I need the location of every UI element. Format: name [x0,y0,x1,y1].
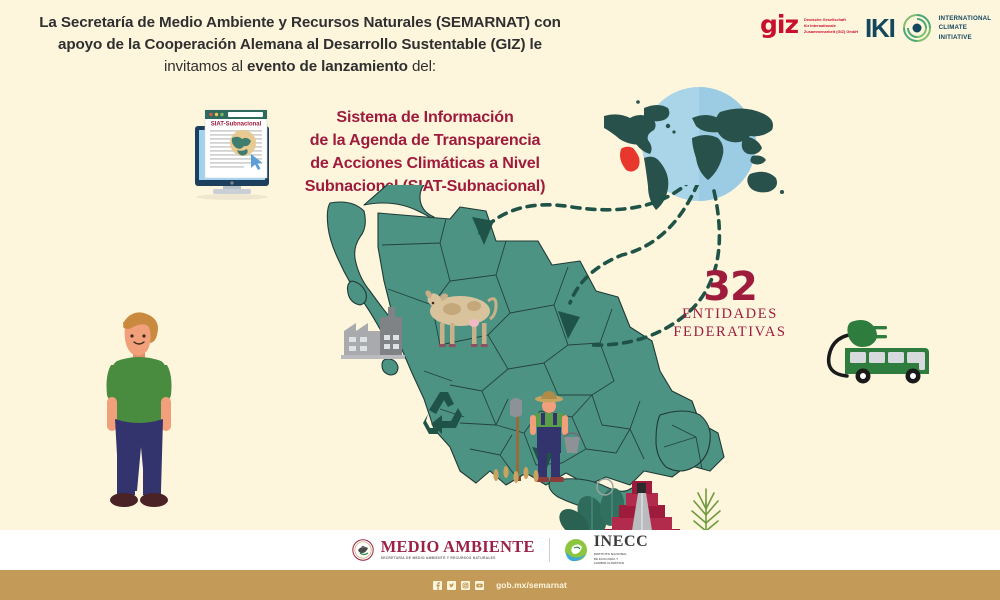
semarnat-logo: MEDIO AMBIENTE SECRETARÍA DE MEDIO AMBIE… [352,539,535,561]
inecc-emblem-icon [564,538,588,562]
entidades-federativas-stat: 32 ENTIDADES FEDERATIVAS [665,268,795,341]
iki-circular-mark-icon [901,12,933,44]
entidades-label-line-1: ENTIDADES [665,306,795,324]
giz-logo: giz Deutsche Gesellschaft für Internatio… [760,14,876,37]
giz-wordmark: giz [760,14,798,37]
instagram-icon[interactable] [461,581,470,590]
header-line-3-pre: invitamos al [164,58,247,75]
main-title-line-3: de Acciones Climáticas a Nivel [280,152,570,175]
iki-logo: IKI INTERNATIONAL CLIMATE INITIATIVE [865,12,991,44]
inecc-logo: INECC INSTITUTO NACIONAL DE ECOLOGÍA Y C… [564,534,649,566]
youtube-icon[interactable] [475,581,484,590]
iki-tagline: INTERNATIONAL CLIMATE INITIATIVE [939,14,992,43]
svg-text:SIAT-Subnacional: SIAT-Subnacional [211,122,262,128]
mexican-eagle-seal-icon [352,539,374,561]
semarnat-subtitle: SECRETARÍA DE MEDIO AMBIENTE Y RECURSOS … [381,557,535,560]
electric-bus-illustration [815,318,940,390]
inecc-title: INECC [594,534,649,550]
footer-url[interactable]: gob.mx/semarnat [496,580,567,590]
inecc-text-block: INECC INSTITUTO NACIONAL DE ECOLOGÍA Y C… [594,534,649,566]
inecc-subtitle-3: CAMBIO CLIMÁTICO [594,561,649,566]
header-line-3-post: del: [408,58,436,75]
electric-bus-icon [815,318,940,390]
header-line-1: La Secretaría de Medio Ambiente y Recurs… [10,12,590,34]
header-line-2: apoyo de la Cooperación Alemana al Desar… [10,34,590,56]
header-line-3-bold: evento de lanzamiento [247,58,408,75]
standing-person-icon [95,305,185,525]
semarnat-title: MEDIO AMBIENTE [381,539,535,555]
inecc-subtitle: INSTITUTO NACIONAL DE ECOLOGÍA Y CAMBIO … [594,552,649,566]
iki-wordmark: IKI [865,13,895,44]
facebook-icon[interactable] [433,581,442,590]
semarnat-text-block: MEDIO AMBIENTE SECRETARÍA DE MEDIO AMBIE… [381,539,535,561]
footer-logo-band: MEDIO AMBIENTE SECRETARÍA DE MEDIO AMBIE… [0,530,1000,570]
footer-divider [549,538,550,562]
entidades-count: 32 [665,268,795,306]
footer-social-bar: gob.mx/semarnat [0,570,1000,600]
header-invitation-text: La Secretaría de Medio Ambiente y Recurs… [10,12,590,78]
iki-tagline-1: INTERNATIONAL [939,14,992,24]
main-title-line-1: Sistema de Información [280,106,570,129]
main-title: Sistema de Información de la Agenda de T… [280,106,570,197]
desktop-computer-icon: SIAT-Subnacional [183,98,281,203]
person-illustration [95,305,185,525]
iki-tagline-2: CLIMATE [939,23,992,33]
header-line-3: invitamos al evento de lanzamiento del: [10,56,590,78]
poster-canvas: La Secretaría de Medio Ambiente y Recurs… [0,0,1000,600]
monitor-illustration: SIAT-Subnacional [183,98,281,203]
footer-logos: MEDIO AMBIENTE SECRETARÍA DE MEDIO AMBIE… [352,534,649,566]
iki-tagline-3: INITIATIVE [939,33,992,43]
twitter-icon[interactable] [447,581,456,590]
mexico-map-icon [300,185,730,545]
main-title-line-2: de la Agenda de Transparencia [280,129,570,152]
entidades-label-line-2: FEDERATIVAS [665,324,795,342]
mexico-map-illustration [300,185,730,545]
